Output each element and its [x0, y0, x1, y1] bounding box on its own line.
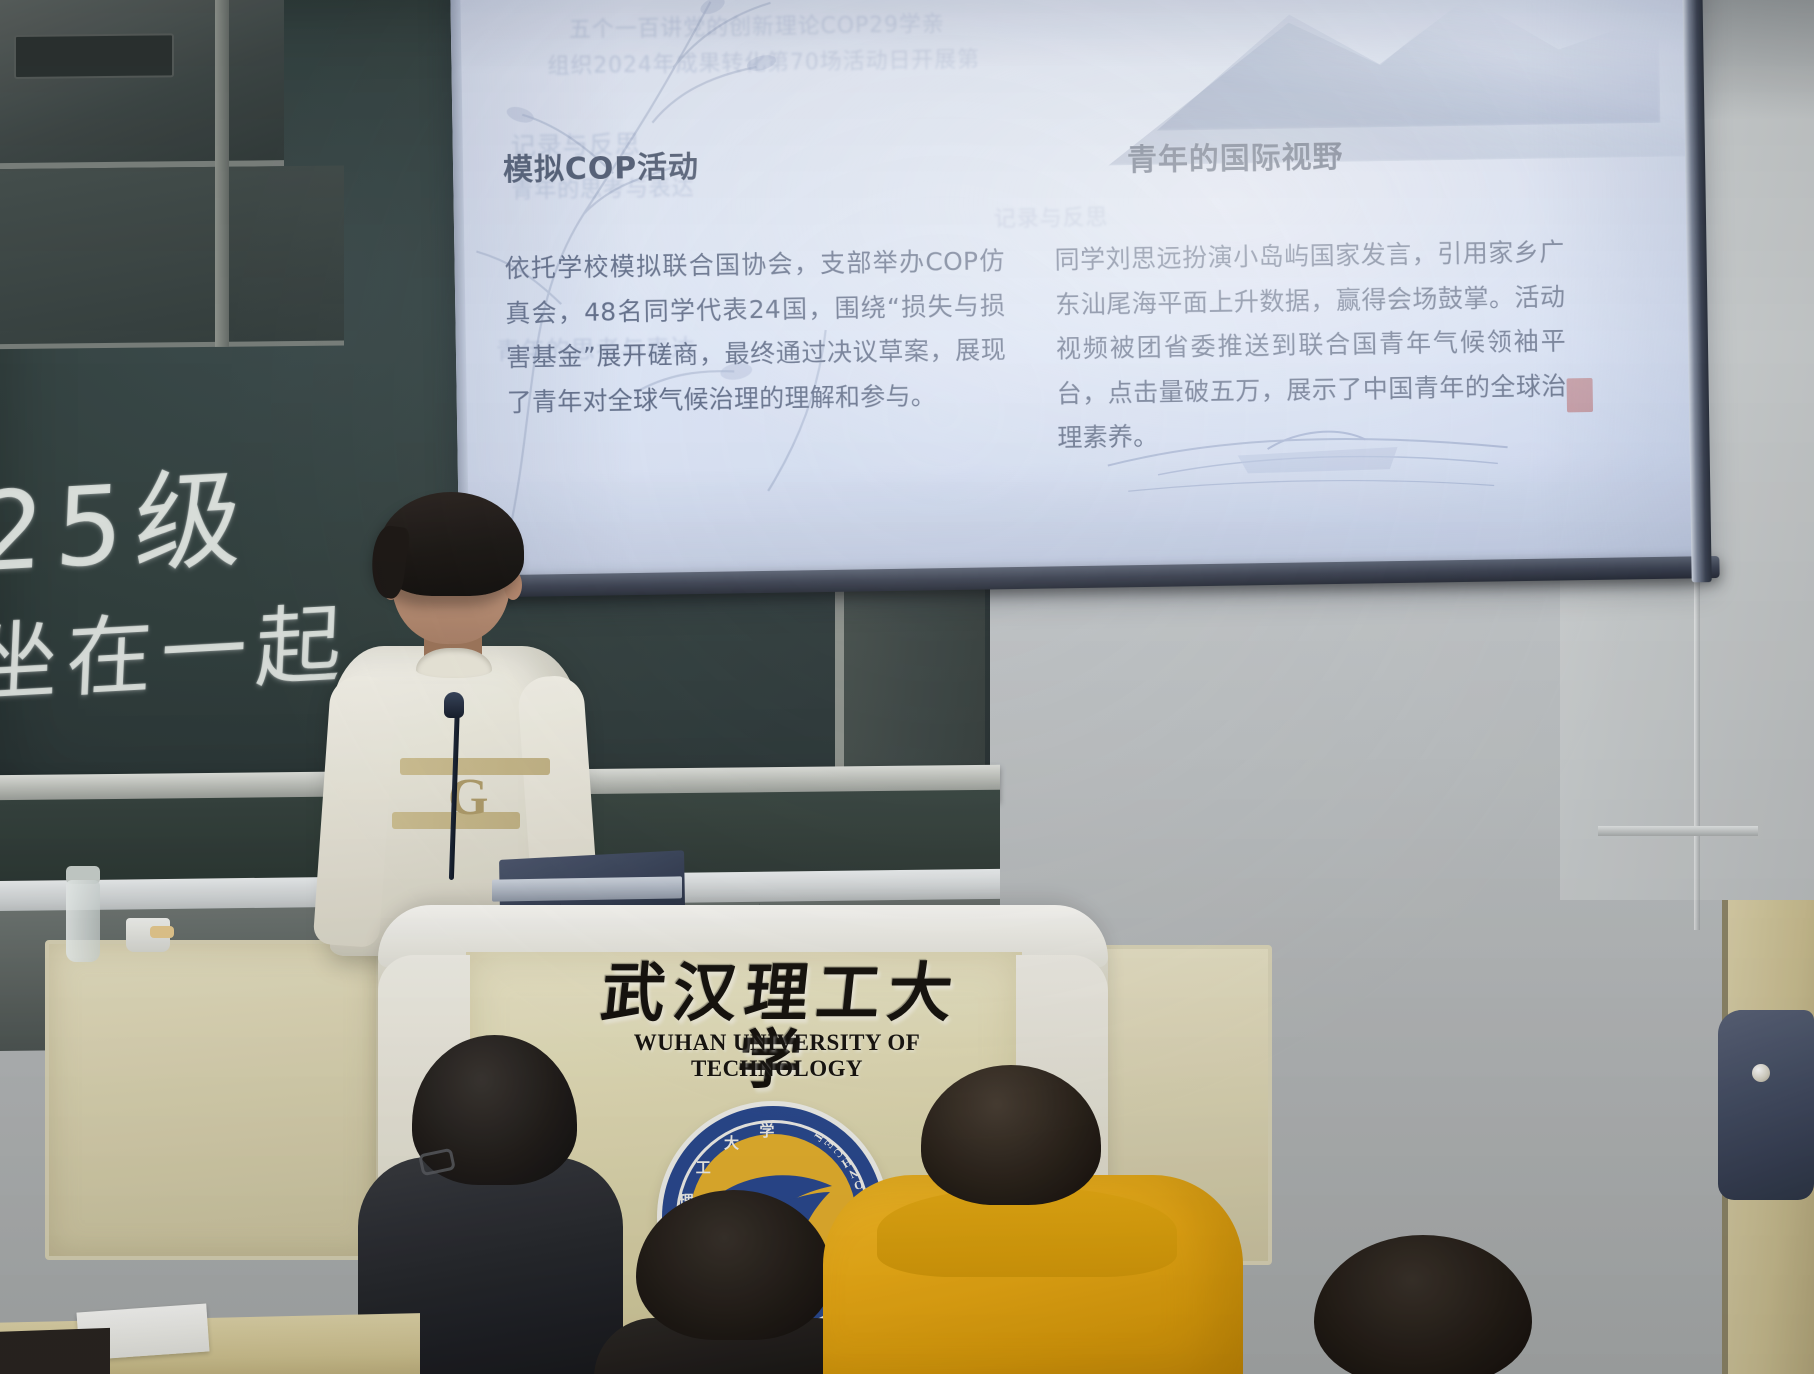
microphone-head	[444, 692, 464, 718]
classroom-presentation-photo: 25级 坐在一起	[0, 0, 1814, 1374]
ink-seal-stamp	[1567, 378, 1594, 412]
student-yellow-hoodie	[855, 1065, 1235, 1374]
ghost-text-line-1: 五个一百讲党的创新理论COP29学亲	[569, 6, 945, 44]
student-front-right	[1290, 1235, 1555, 1374]
student-3-hair	[921, 1065, 1101, 1205]
coat-button	[1752, 1064, 1770, 1082]
foreground-shadow	[0, 1328, 110, 1374]
slide-heading-left: 模拟COP活动	[503, 137, 1004, 189]
slide-body-right: 同学刘思远扮演小岛屿国家发言，引用家乡广东汕尾海平面上升数据，赢得会场鼓掌。活动…	[1054, 230, 1567, 460]
chalk-text-seating: 坐在一起	[0, 573, 353, 719]
slide-column-right: 青年的国际视野 同学刘思远扮演小岛屿国家发言，引用家乡广东汕尾海平面上升数据，赢…	[1053, 128, 1568, 460]
speaker-hair	[378, 492, 524, 596]
blackboard-upper-panel-2	[0, 166, 344, 350]
hanging-coat	[1718, 1010, 1814, 1200]
slide-heading-right: 青年的国际视野	[1127, 128, 1564, 179]
student-4-hair	[1314, 1235, 1532, 1374]
wall-trim-strip	[1598, 826, 1758, 836]
blackboard-upper-panel	[0, 0, 284, 169]
blackboard-panel-slot	[14, 33, 174, 79]
ghost-text-line-2: 组织2024年成果转化第70场活动日开展第	[547, 42, 980, 81]
blackboard-divider	[215, 0, 229, 347]
student-front-center	[620, 1190, 850, 1374]
paper-cup-lid	[150, 926, 174, 938]
ink-wash-mountain-art-2	[1098, 0, 1660, 132]
projection-screen: 五个一百讲党的创新理论COP29学亲 组织2024年成果转化第70场活动日开展第…	[450, 0, 1708, 596]
slide-body-left: 依托学校模拟联合国协会，支部举办COP仿真会，48名同学代表24国，围绕“损失与…	[504, 239, 1007, 425]
slide-column-left: 模拟COP活动 依托学校模拟联合国协会，支部举办COP仿真会，48名同学代表24…	[503, 137, 1007, 425]
projector-screen-assembly: 五个一百讲党的创新理论COP29学亲 组织2024年成果转化第70场活动日开展第…	[450, 0, 1708, 616]
student-2-hair	[636, 1190, 832, 1340]
water-bottle	[66, 880, 100, 962]
chalk-text-grade: 25级	[0, 431, 257, 603]
left-cabinet-panel	[45, 940, 380, 1260]
